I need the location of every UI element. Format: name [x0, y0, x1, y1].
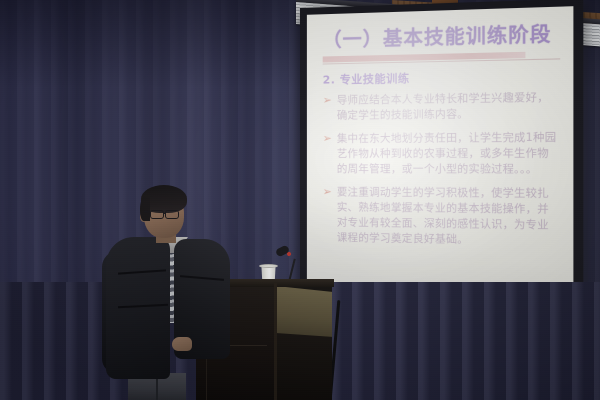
presenter-hand	[172, 337, 192, 351]
presenter-hair-side	[140, 197, 150, 221]
bullet-text: 集中在东大地划分责任田，让学生完成1种园艺作物从种到收的农事过程，或多年生作物的…	[337, 130, 560, 178]
presenter-jacket-left	[106, 237, 170, 379]
paper-cup-rim	[259, 264, 278, 268]
lecture-hall-scene: （一）基本技能训练阶段 2. 专业技能训练 ➢ 导师应结合本人专业特长和学生兴趣…	[0, 0, 600, 400]
bullet-text: 导师应结合本人专业特长和学生兴趣爱好，确定学生的技能训练内容。	[337, 90, 560, 124]
slide-bullet-list: ➢ 导师应结合本人专业特长和学生兴趣爱好，确定学生的技能训练内容。 ➢ 集中在东…	[323, 90, 561, 249]
glasses-icon	[165, 210, 179, 219]
podium-edge	[274, 283, 277, 400]
podium-side-lower	[276, 333, 332, 400]
slide-subheading: 2. 专业技能训练	[323, 67, 561, 88]
list-item: ➢ 集中在东大地划分责任田，让学生完成1种园艺作物从种到收的农事过程，或多年生作…	[323, 130, 561, 178]
slide-title: （一）基本技能训练阶段	[323, 24, 561, 52]
podium-side-panel	[276, 286, 332, 340]
presentation-slide: （一）基本技能训练阶段 2. 专业技能训练 ➢ 导师应结合本人专业特长和学生兴趣…	[307, 6, 574, 317]
presenter	[100, 185, 235, 400]
list-item: ➢ 导师应结合本人专业特长和学生兴趣爱好，确定学生的技能训练内容。	[323, 90, 561, 124]
list-item: ➢ 要注重调动学生的学习积极性，使学生较扎实、熟练地掌握本专业的基本技能操作，并…	[323, 185, 561, 249]
arrow-bullet-icon: ➢	[323, 185, 332, 198]
glasses-icon	[150, 210, 164, 219]
bullet-text: 要注重调动学生的学习积极性，使学生较扎实、熟练地掌握本专业的基本技能操作，并对专…	[337, 185, 560, 249]
projection-screen-frame: （一）基本技能训练阶段 2. 专业技能训练 ➢ 导师应结合本人专业特长和学生兴趣…	[300, 0, 583, 330]
projection-screen: （一）基本技能训练阶段 2. 专业技能训练 ➢ 导师应结合本人专业特长和学生兴趣…	[307, 6, 574, 317]
glasses-bridge	[163, 213, 166, 214]
arrow-bullet-icon: ➢	[323, 93, 332, 106]
arrow-bullet-icon: ➢	[323, 132, 332, 145]
